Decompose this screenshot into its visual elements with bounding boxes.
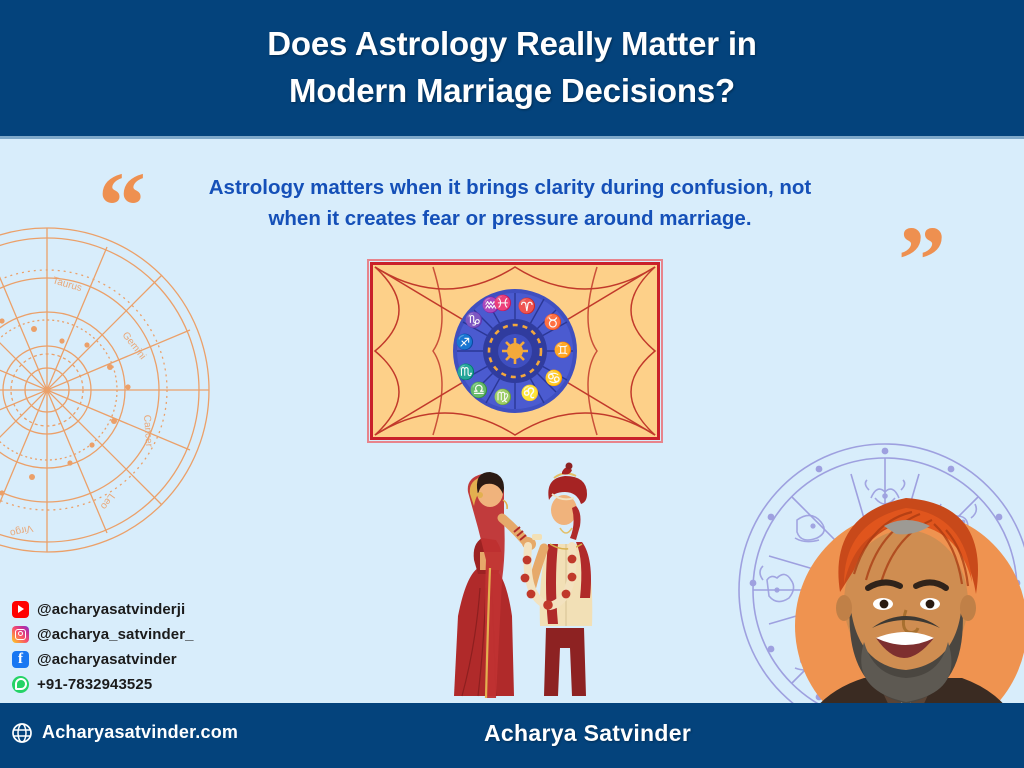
- svg-text:♉: ♉: [544, 313, 563, 331]
- header-divider: [0, 136, 1024, 139]
- quote-text: Astrology matters when it brings clarity…: [190, 172, 830, 234]
- svg-text:♐: ♐: [456, 333, 475, 351]
- svg-text:♌: ♌: [521, 384, 540, 402]
- list-item[interactable]: @acharyasatvinderji: [12, 598, 194, 620]
- list-item[interactable]: +91-7832943525: [12, 673, 194, 695]
- svg-text:Virgo: Virgo: [8, 522, 34, 538]
- svg-text:Cancer: Cancer: [141, 414, 154, 448]
- globe-icon: [12, 723, 32, 743]
- website-text: Acharyasatvinder.com: [42, 722, 238, 743]
- social-handle-instagram: @acharya_satvinder_: [37, 626, 194, 643]
- svg-text:♏: ♏: [457, 363, 476, 381]
- social-handle-facebook: @acharyasatvinder: [37, 651, 177, 668]
- whatsapp-icon: [12, 676, 29, 693]
- title-line-2: Modern Marriage Decisions?: [267, 68, 757, 115]
- indian-wedding-couple-illustration: [424, 448, 624, 704]
- title-line-1: Does Astrology Really Matter in: [267, 21, 757, 68]
- svg-text:♍: ♍: [494, 388, 513, 406]
- list-item[interactable]: @acharya_satvinder_: [12, 623, 194, 645]
- page-title: Does Astrology Really Matter in Modern M…: [267, 21, 757, 115]
- quote-line-2: when it creates fear or pressure around …: [268, 207, 751, 230]
- header-banner: Does Astrology Really Matter in Modern M…: [0, 0, 1024, 136]
- social-handle-youtube: @acharyasatvinderji: [37, 601, 185, 618]
- brand-name: Acharya Satvinder: [484, 720, 691, 747]
- svg-text:♈: ♈: [518, 297, 537, 315]
- left-zodiac-wheel-decoration: ♈ ♉ ♊ ♋ ♌ ♍ Aries Taurus Gemini Cancer L…: [0, 225, 212, 555]
- social-handles-list: @acharyasatvinderji @acharya_satvinder_ …: [12, 598, 194, 695]
- svg-text:Gemini: Gemini: [120, 330, 148, 362]
- svg-text:♑: ♑: [465, 311, 484, 329]
- svg-text:♋: ♋: [545, 369, 564, 387]
- svg-text:Taurus: Taurus: [51, 275, 83, 294]
- website-link[interactable]: Acharyasatvinder.com: [12, 722, 238, 743]
- quote-open-mark: “: [98, 158, 144, 254]
- youtube-icon: [12, 601, 29, 618]
- social-handle-whatsapp: +91-7832943525: [37, 676, 152, 693]
- svg-text:♓: ♓: [494, 294, 513, 312]
- quote-close-mark: ”: [898, 212, 944, 308]
- instagram-icon: [12, 626, 29, 643]
- svg-text:Leo: Leo: [98, 491, 117, 511]
- kundli-birth-chart-image: ♈ ♉ ♊ ♋ ♌ ♍ ♎ ♏ ♐ ♑ ♒ ♓: [370, 262, 660, 440]
- svg-text:♊: ♊: [554, 341, 573, 359]
- facebook-icon: [12, 651, 29, 668]
- list-item[interactable]: @acharyasatvinder: [12, 648, 194, 670]
- quote-line-1: Astrology matters when it brings clarity…: [209, 176, 812, 199]
- poster-canvas: ♈ ♉ ♊ ♋ ♌ ♍ Aries Taurus Gemini Cancer L…: [0, 0, 1024, 768]
- svg-text:♎: ♎: [470, 381, 489, 399]
